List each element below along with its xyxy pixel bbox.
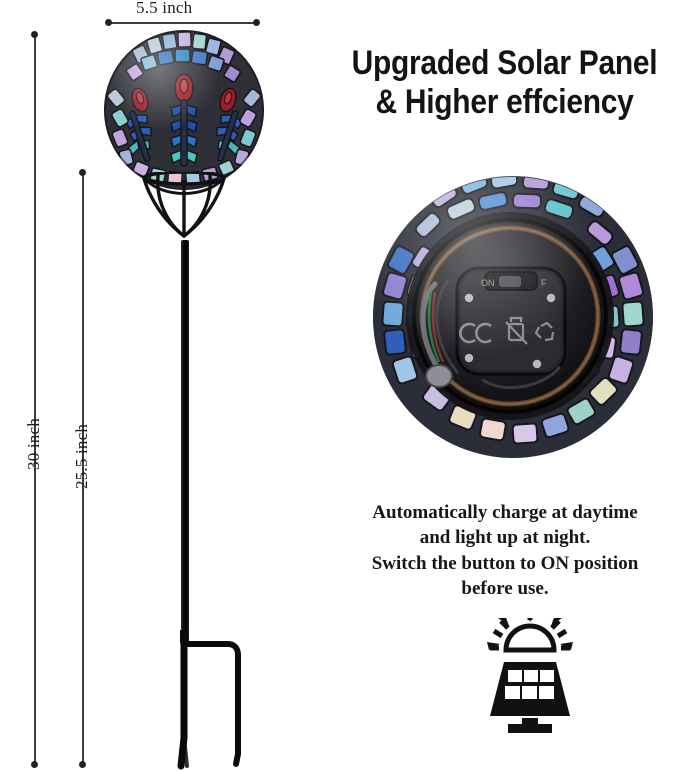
headline: Upgraded Solar Panel & Higher effciency: [351, 44, 658, 123]
dimension-dot-total-bottom: [31, 761, 38, 768]
product-photo-solar-stake: 5.5 inch 30 inch 25.5 inch: [0, 0, 330, 771]
dimension-line-total-height: [34, 36, 36, 765]
dimension-line-width: [110, 22, 256, 24]
detail-photo-solar-panel-underside: ON F: [373, 176, 653, 458]
dimension-dot-stake-bottom: [79, 761, 86, 768]
dimension-label-total-height: 30 inch: [24, 418, 44, 470]
stake-pole: [181, 240, 189, 645]
dimension-dot-stake-top: [79, 169, 86, 176]
infographic-canvas: 5.5 inch 30 inch 25.5 inch Upgraded Sola…: [0, 0, 679, 771]
instruction-line-1: Automatically charge at daytime: [332, 500, 678, 525]
instruction-text: Automatically charge at daytime and ligh…: [332, 500, 678, 602]
instruction-line-4: before use.: [332, 576, 678, 601]
mosaic-pattern: [104, 30, 264, 190]
headline-line-1: Upgraded Solar Panel: [351, 44, 658, 83]
detail-photo-artwork: ON F: [373, 176, 653, 458]
sun-icon: [487, 618, 573, 650]
instruction-line-3: Switch the button to ON position: [332, 551, 678, 576]
dimension-dot-width-left: [105, 19, 112, 26]
solar-panel-icon-art: [468, 618, 592, 740]
headline-line-2: & Higher effciency: [351, 83, 658, 122]
dimension-label-stake-height: 25.5 inch: [72, 424, 92, 489]
instruction-line-2: and light up at night.: [332, 525, 678, 550]
dimension-dot-width-right: [253, 19, 260, 26]
dimension-dot-total-top: [31, 31, 38, 38]
dimension-label-width: 5.5 inch: [136, 0, 192, 18]
mosaic-globe: [104, 30, 264, 190]
iron-globe-holder: [140, 172, 228, 246]
solar-panel-icon: [468, 618, 592, 740]
